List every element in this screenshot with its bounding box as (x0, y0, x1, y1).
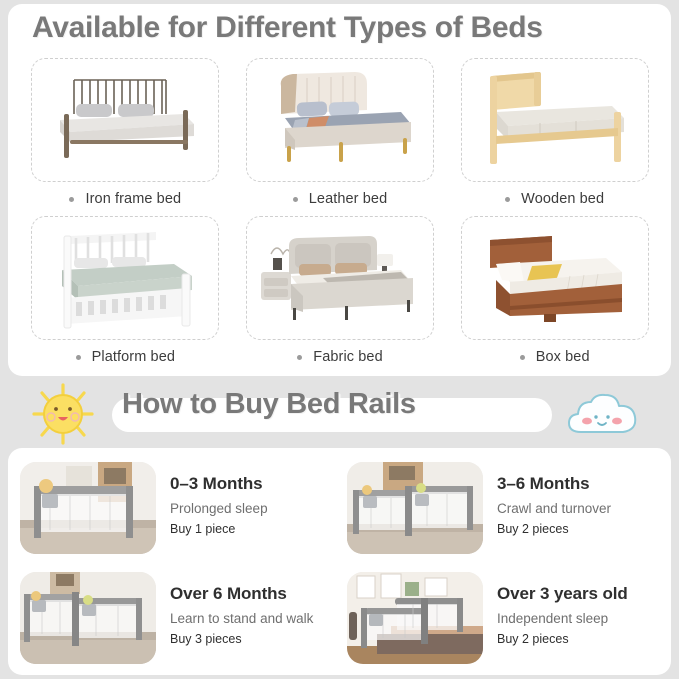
sun-icon (26, 382, 100, 446)
wooden-bed-illustration (466, 62, 644, 178)
rail-buy-quantity: Buy 2 pieces (497, 632, 628, 646)
rail-buy-quantity: Buy 1 piece (170, 522, 268, 536)
bullet-dot-icon (76, 355, 81, 360)
rail-text-block: 0–3 Months Prolonged sleep Buy 1 piece (170, 462, 268, 536)
bed-label-row: Wooden bed (505, 191, 604, 207)
bed-label-text: Leather bed (309, 191, 388, 207)
bullet-dot-icon (293, 197, 298, 202)
bed-image-frame (461, 58, 649, 182)
bed-label-text: Platform bed (92, 349, 175, 365)
box-bed-illustration (466, 220, 644, 336)
bullet-dot-icon (297, 355, 302, 360)
bed-types-heading: Available for Different Types of Beds (32, 8, 543, 48)
bed-card-wooden[interactable]: Wooden bed (451, 58, 658, 214)
bed-image-frame (31, 58, 219, 182)
bed-card-iron-frame[interactable]: Iron frame bed (22, 58, 229, 214)
rail-text-block: 3–6 Months Crawl and turnover Buy 2 piec… (497, 462, 611, 536)
bed-rail-corner-photo (347, 572, 483, 664)
rail-buy-quantity: Buy 2 pieces (497, 522, 611, 536)
rail-subtitle: Crawl and turnover (497, 501, 611, 516)
platform-bed-illustration (36, 220, 214, 336)
bullet-dot-icon (505, 197, 510, 202)
rail-photo (20, 572, 156, 664)
bed-card-fabric[interactable]: Fabric bed (237, 216, 444, 372)
iron-frame-bed-illustration (36, 62, 214, 178)
rail-text-block: Over 3 years old Independent sleep Buy 2… (497, 572, 628, 646)
rail-title: Over 3 years old (497, 584, 628, 604)
rail-photo (347, 462, 483, 554)
cloud-icon (563, 390, 643, 442)
bed-image-frame (461, 216, 649, 340)
bed-rail-three-side-photo (20, 572, 156, 664)
bed-label-row: Box bed (520, 349, 590, 365)
rail-title: 3–6 Months (497, 474, 611, 494)
bed-card-box[interactable]: Box bed (451, 216, 658, 372)
bed-types-grid: Iron frame bed (22, 58, 658, 372)
rail-subtitle: Independent sleep (497, 611, 628, 626)
rail-photo (20, 462, 156, 554)
bed-label-row: Fabric bed (297, 349, 383, 365)
bed-label-row: Iron frame bed (69, 191, 181, 207)
rail-card-over-3-years[interactable]: Over 3 years old Independent sleep Buy 2… (347, 572, 660, 676)
bed-label-row: Platform bed (76, 349, 175, 365)
bed-image-frame (246, 216, 434, 340)
rail-text-block: Over 6 Months Learn to stand and walk Bu… (170, 572, 313, 646)
bed-label-text: Box bed (536, 349, 590, 365)
bed-card-platform[interactable]: Platform bed (22, 216, 229, 372)
rail-title: 0–3 Months (170, 474, 268, 494)
bed-image-frame (31, 216, 219, 340)
bed-label-row: Leather bed (293, 191, 388, 207)
rail-card-0-3-months[interactable]: 0–3 Months Prolonged sleep Buy 1 piece (20, 462, 333, 566)
bed-rail-two-side-photo (347, 462, 483, 554)
bullet-dot-icon (69, 197, 74, 202)
bed-label-text: Iron frame bed (85, 191, 181, 207)
rail-subtitle: Prolonged sleep (170, 501, 268, 516)
rail-title: Over 6 Months (170, 584, 313, 604)
how-to-buy-grid: 0–3 Months Prolonged sleep Buy 1 piece (20, 462, 660, 676)
bed-image-frame (246, 58, 434, 182)
rail-card-over-6-months[interactable]: Over 6 Months Learn to stand and walk Bu… (20, 572, 333, 676)
leather-bed-illustration (251, 62, 429, 178)
bed-label-text: Fabric bed (313, 349, 383, 365)
bullet-dot-icon (520, 355, 525, 360)
bed-card-leather[interactable]: Leather bed (237, 58, 444, 214)
rails-heading: How to Buy Bed Rails (122, 384, 416, 424)
rail-card-3-6-months[interactable]: 3–6 Months Crawl and turnover Buy 2 piec… (347, 462, 660, 566)
fabric-bed-illustration (251, 220, 429, 336)
rail-buy-quantity: Buy 3 pieces (170, 632, 313, 646)
bed-label-text: Wooden bed (521, 191, 604, 207)
bed-rail-single-side-photo (20, 462, 156, 554)
rail-photo (347, 572, 483, 664)
rail-subtitle: Learn to stand and walk (170, 611, 313, 626)
